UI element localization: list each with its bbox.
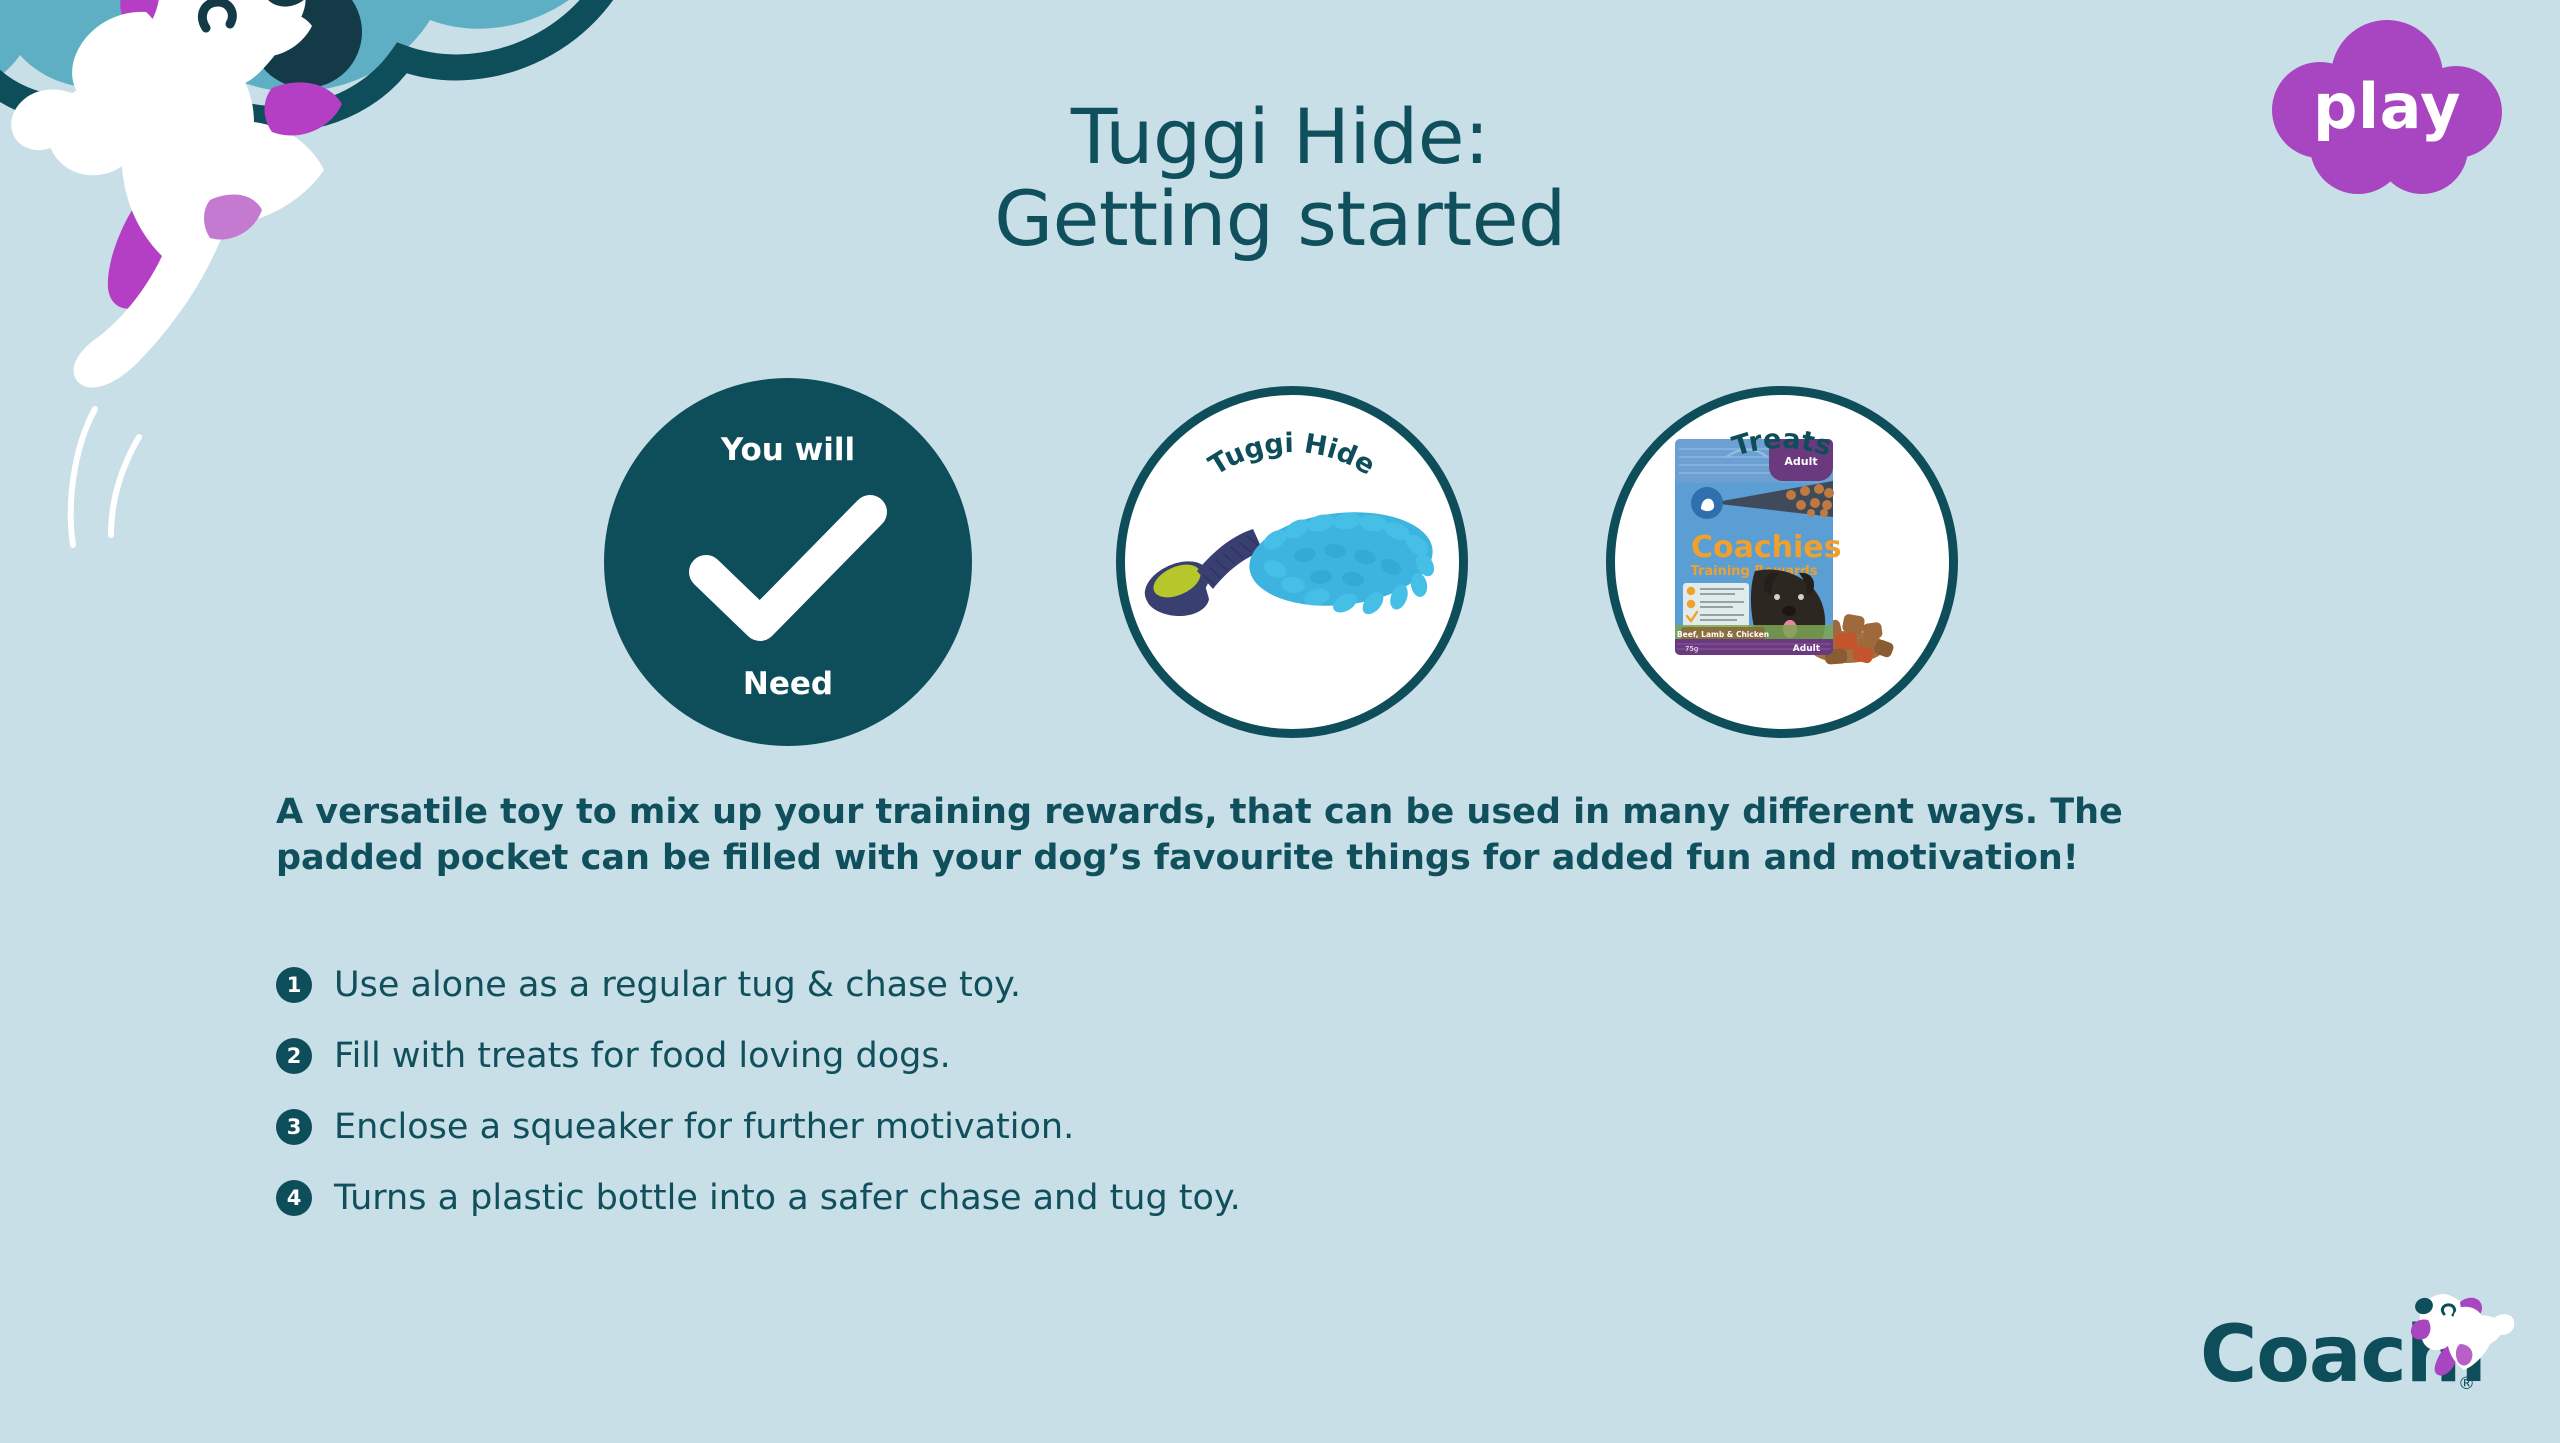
step-text: Fill with treats for food loving dogs. [334,1036,951,1076]
tug-toy-chenille-head [1245,504,1438,618]
circle-caption-top: You will [604,432,972,468]
coachies-treat-pack: Adult Coa [1675,439,1842,655]
step-number-badge: 3 [276,1109,312,1145]
treats-photo: Adult Coa [1615,395,1949,729]
circle-treats: Adult Coa [1606,386,1958,738]
pack-weight: 75g [1685,645,1698,653]
tug-toy-handle [1137,552,1216,618]
leaping-dog-icon [2398,1284,2518,1380]
coachi-logo: Coachi ® [2200,1300,2520,1420]
tuggi-hide-photo [1125,395,1459,729]
step-text: Turns a plastic bottle into a safer chas… [334,1178,1241,1218]
step-text: Use alone as a regular tug & chase toy. [334,965,1021,1005]
pack-badge-adult-top: Adult [1784,455,1817,468]
pack-badge-adult-bottom: Adult [1793,644,1821,654]
intro-paragraph: A versatile toy to mix up your training … [276,789,2216,881]
slide-canvas: play Tuggi Hide: Getting started You wil… [0,0,2560,1443]
list-item: 2 Fill with treats for food loving dogs. [276,1021,1976,1091]
list-item: 4 Turns a plastic bottle into a safer ch… [276,1163,1976,1233]
circle-you-will-need: You will Need [604,378,972,746]
circle-caption-bottom: Need [604,666,972,702]
step-number-badge: 1 [276,967,312,1003]
ingredient-circles: You will Need [0,366,2560,786]
pack-flavour: Beef, Lamb & Chicken [1677,630,1769,639]
circle-tuggi-hide: Tuggi Hide [1116,386,1468,738]
steps-list: 1 Use alone as a regular tug & chase toy… [276,950,1976,1234]
step-number-badge: 4 [276,1180,312,1216]
page-title: Tuggi Hide: Getting started [0,96,2560,260]
page-title-line-1: Tuggi Hide: [1071,92,1489,181]
list-item: 1 Use alone as a regular tug & chase toy… [276,950,1976,1020]
step-text: Enclose a squeaker for further motivatio… [334,1107,1074,1147]
check-icon [688,494,888,644]
list-item: 3 Enclose a squeaker for further motivat… [276,1092,1976,1162]
page-title-line-2: Getting started [0,178,2560,260]
pack-brand-name: Coachies [1691,530,1842,565]
step-number-badge: 2 [276,1038,312,1074]
